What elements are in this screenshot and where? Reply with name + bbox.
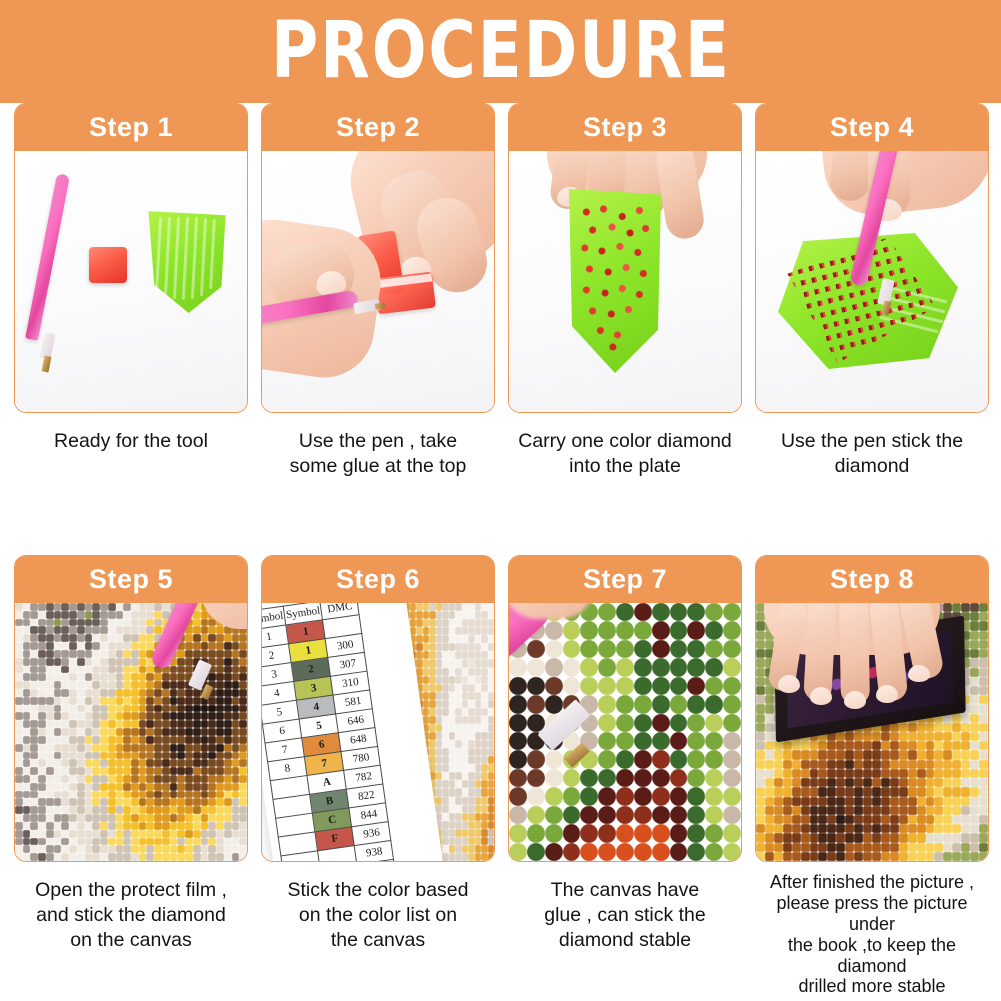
step-card-3: Step 3 [508, 103, 742, 413]
step-photo-4 [756, 151, 988, 412]
step-heading-1: Step 1 [15, 104, 247, 151]
step-caption-2: Use the pen , take some glue at the top [261, 429, 495, 479]
step-photo-2 [262, 151, 494, 412]
step-card-1: Step 1 [14, 103, 248, 413]
step-cell-2: Step 2 [261, 103, 495, 479]
step-photo-7 [509, 603, 741, 861]
step-heading-4: Step 4 [756, 104, 988, 151]
step-card-5: Step 5 [14, 555, 248, 862]
step-cell-4: Step 4 [755, 103, 989, 479]
step-cell-7: Step 7 The canvas have glue , can stick … [508, 555, 742, 953]
step-caption-1: Ready for the tool [14, 429, 248, 454]
steps-row-bottom: Step 5 Open the protect film , and stick… [0, 555, 1001, 1001]
step7-illustration [509, 603, 741, 861]
step-photo-3 [509, 151, 741, 412]
step-caption-4: Use the pen stick the diamond [755, 429, 989, 479]
step-heading-7: Step 7 [509, 556, 741, 603]
step-heading-3: Step 3 [509, 104, 741, 151]
steps-grid: Step 1 [0, 103, 1001, 1001]
step-photo-6: SymbolSymbolDMC1121300323074331054581656… [262, 603, 494, 861]
step-heading-2: Step 2 [262, 104, 494, 151]
step-card-8: Step 8 [755, 555, 989, 862]
step6-illustration: SymbolSymbolDMC1121300323074331054581656… [262, 603, 494, 861]
step-caption-5: Open the protect film , and stick the di… [14, 878, 248, 953]
sunflower-mosaic [15, 603, 247, 861]
step-photo-8 [756, 603, 988, 861]
step-caption-6: Stick the color based on the color list … [261, 878, 495, 953]
page-title: PROCEDURE [271, 12, 731, 90]
step-heading-5: Step 5 [15, 556, 247, 603]
step-caption-3: Carry one color diamond into the plate [508, 429, 742, 479]
step-card-2: Step 2 [261, 103, 495, 413]
step-card-7: Step 7 [508, 555, 742, 862]
steps-row-top: Step 1 [0, 103, 1001, 555]
page-header-banner: PROCEDURE [0, 0, 1001, 103]
red-drills-scatter [577, 203, 655, 353]
step5-illustration [15, 603, 247, 861]
step-photo-5 [15, 603, 247, 861]
step-card-6: Step 6 SymbolSymbolDMC112130032307433105… [261, 555, 495, 862]
step-cell-8: Step 8 [755, 555, 989, 997]
step-card-4: Step 4 [755, 103, 989, 413]
step2-illustration [262, 151, 494, 412]
step-cell-6: Step 6 SymbolSymbolDMC112130032307433105… [261, 555, 495, 953]
step-heading-6: Step 6 [262, 556, 494, 603]
step-photo-1 [15, 151, 247, 412]
step-caption-8: After finished the picture , please pres… [755, 872, 989, 997]
step-cell-1: Step 1 [14, 103, 248, 454]
step-heading-8: Step 8 [756, 556, 988, 603]
step8-illustration [756, 603, 988, 861]
step1-illustration [15, 151, 247, 412]
step-cell-5: Step 5 Open the protect film , and stick… [14, 555, 248, 953]
step4-illustration [756, 151, 988, 412]
step-caption-7: The canvas have glue , can stick the dia… [508, 878, 742, 953]
step-cell-3: Step 3 [508, 103, 742, 479]
step3-illustration [509, 151, 741, 412]
